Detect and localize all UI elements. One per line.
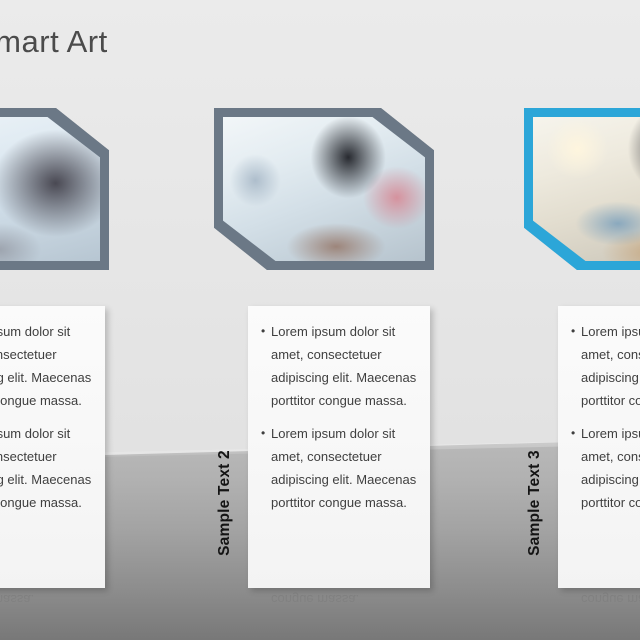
list-item: Lorem ipsum dolor sit amet, consectetuer…: [572, 320, 640, 412]
list-item: Lorem ipsum dolor sit amet, consectetuer…: [572, 422, 640, 514]
bullet-list-3: Lorem ipsum dolor sit amet, consectetuer…: [558, 306, 640, 514]
content-panel-3[interactable]: Sample Text 3 Lorem ipsum dolor sit amet…: [520, 0, 640, 640]
panel-label-text-2: Sample Text 2: [216, 450, 234, 556]
content-panel-2[interactable]: Sample Text 2 Lorem ipsum dolor sit amet…: [210, 0, 440, 640]
text-card-3[interactable]: Lorem ipsum dolor sit amet, consectetuer…: [558, 306, 640, 588]
text-card-2[interactable]: Lorem ipsum dolor sit amet, consectetuer…: [248, 306, 430, 588]
picture-image-2: [223, 117, 425, 261]
list-item: Lorem ipsum dolor sit amet, consectetuer…: [262, 320, 420, 412]
bullet-list-2: Lorem ipsum dolor sit amet, consectetuer…: [248, 306, 430, 514]
card-reflection-3: congue massa.: [558, 588, 640, 640]
picture-frame-3[interactable]: [524, 108, 640, 270]
bullet-list-1: Lorem ipsum dolor sit amet, consectetuer…: [0, 306, 105, 514]
reflection-text-1: congue massa.: [0, 588, 105, 611]
list-item: Lorem ipsum dolor sit amet, consectetuer…: [0, 422, 95, 514]
picture-frame-1[interactable]: [0, 108, 109, 270]
card-reflection-1: congue massa.: [0, 588, 105, 640]
card-reflection-2: congue massa.: [248, 588, 430, 640]
picture-frame-2[interactable]: [214, 108, 434, 270]
slide-canvas: Smart Art Sample Text 1 Lorem ipsum dolo…: [0, 0, 640, 640]
panel-label-3: Sample Text 3: [522, 312, 548, 512]
list-item: Lorem ipsum dolor sit amet, consectetuer…: [262, 422, 420, 514]
panel-label-text-3: Sample Text 3: [526, 450, 544, 556]
text-card-1[interactable]: Lorem ipsum dolor sit amet, consectetuer…: [0, 306, 105, 588]
panel-label-2: Sample Text 2: [212, 312, 238, 512]
content-panel-1[interactable]: Sample Text 1 Lorem ipsum dolor sit amet…: [0, 0, 115, 640]
list-item: Lorem ipsum dolor sit amet, consectetuer…: [0, 320, 95, 412]
reflection-text-2: congue massa.: [248, 588, 430, 611]
reflection-text-3: congue massa.: [558, 588, 640, 611]
